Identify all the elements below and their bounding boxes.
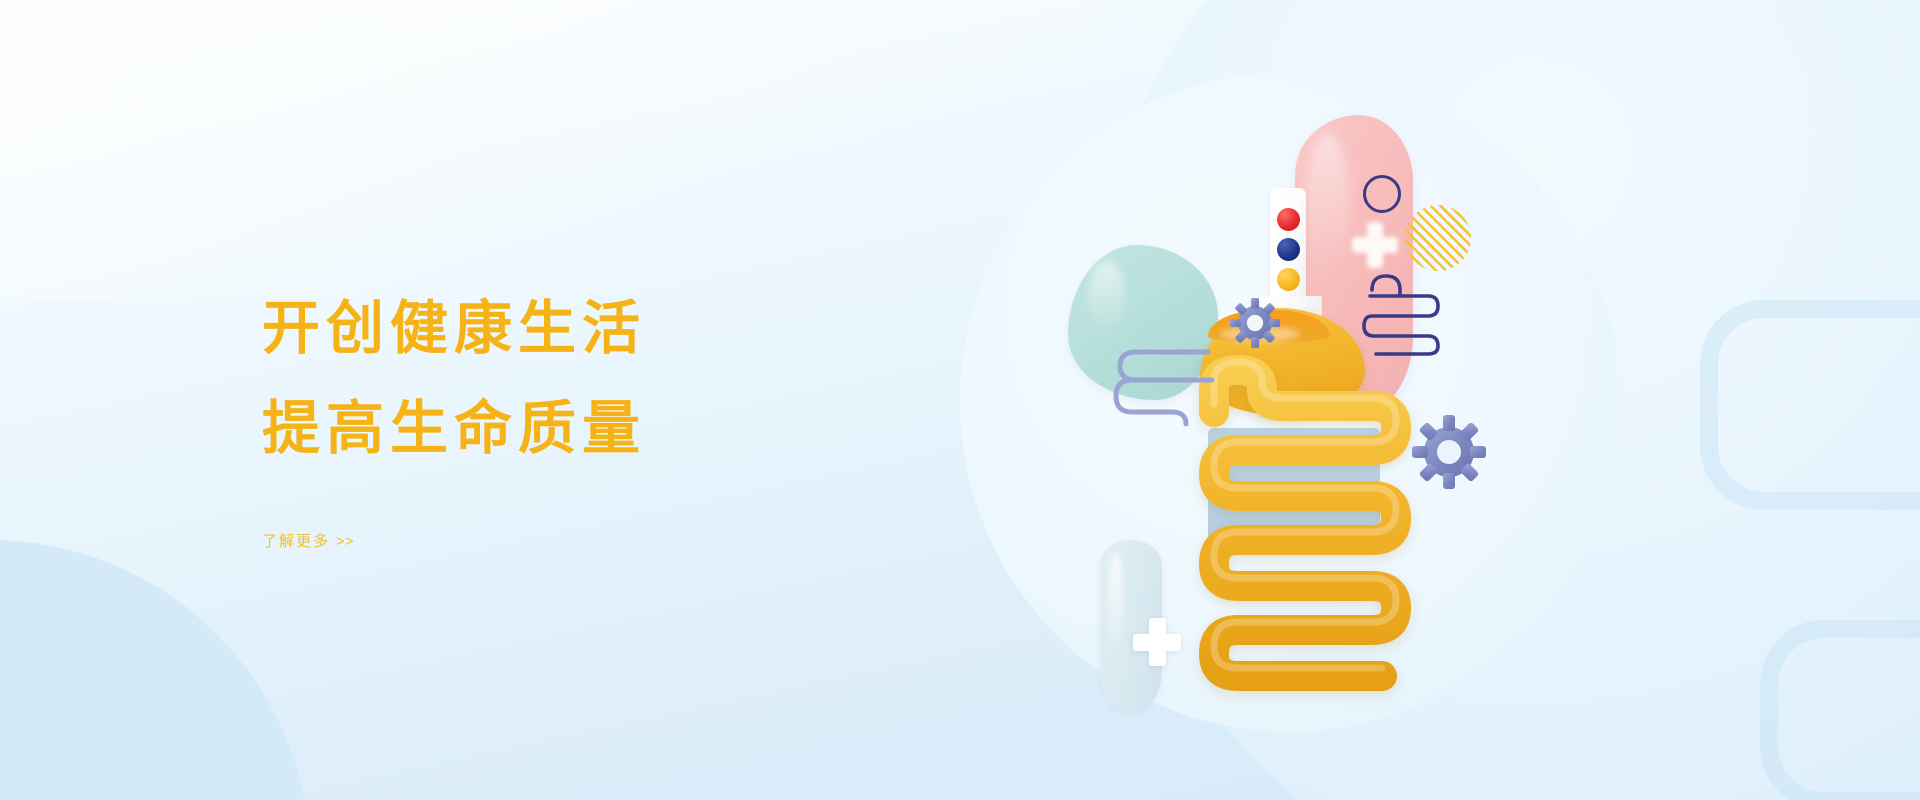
- gear-large-icon: [1412, 415, 1486, 489]
- cross-bar-vertical: [1149, 618, 1166, 666]
- learn-more-label: 了解更多: [262, 533, 330, 550]
- background-top-sheen: [0, 0, 1100, 300]
- pill-red: [1277, 208, 1300, 231]
- hero-copy: 开创健康生活 提高生命质量 了解更多>>: [262, 300, 882, 551]
- hero-banner: 开创健康生活 提高生命质量 了解更多>>: [0, 0, 1920, 800]
- cross-bar-vertical: [1367, 222, 1383, 268]
- pill-yellow: [1277, 268, 1300, 291]
- headline-line-1: 开创健康生活: [262, 300, 882, 358]
- intestines: [1186, 328, 1416, 708]
- chevron-double-right-icon: >>: [336, 533, 354, 550]
- digestive-system-illustration: [950, 60, 1650, 760]
- background-circle-bottom-left: [0, 540, 310, 800]
- learn-more-link[interactable]: 了解更多>>: [262, 530, 354, 551]
- gear-small-icon: [1230, 298, 1280, 348]
- medical-cross-icon: [1133, 618, 1181, 666]
- medical-cross-soft-icon: [1352, 222, 1398, 268]
- squiggle-left: [1112, 342, 1216, 437]
- pill-navy: [1277, 238, 1300, 261]
- squiggle-right: [1362, 272, 1440, 363]
- background-rounded-rect-1: [1700, 300, 1920, 510]
- background-rounded-rect-2: [1760, 620, 1920, 800]
- hatched-circle: [1405, 205, 1471, 271]
- headline-line-2: 提高生命质量: [262, 400, 882, 458]
- navy-ring-outline: [1363, 175, 1401, 213]
